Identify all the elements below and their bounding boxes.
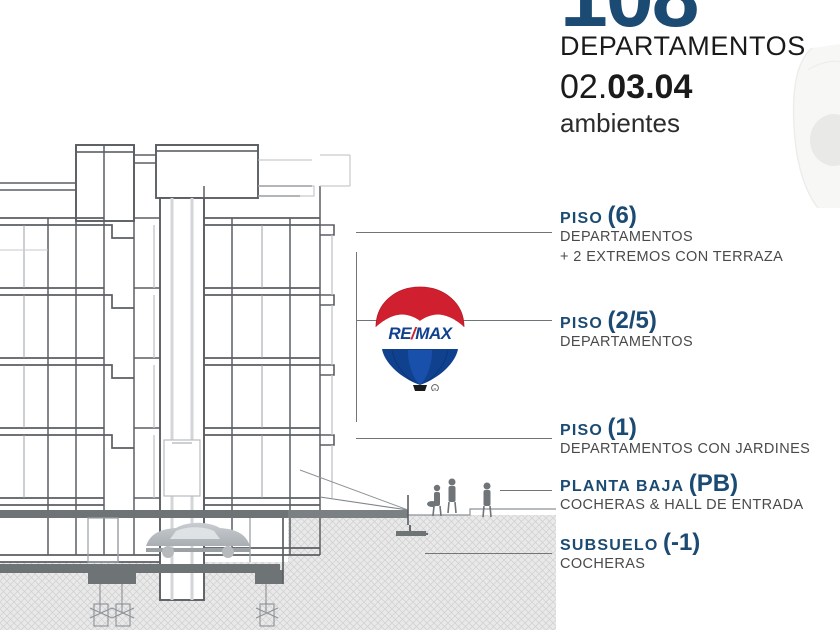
floor-desc-line: COCHERAS & HALL DE ENTRADA — [560, 496, 840, 516]
floor-label: SUBSUELO — [560, 537, 659, 554]
floor-label: PISO — [560, 210, 603, 227]
floor-title-planta-baja: PLANTA BAJA (PB) — [560, 471, 840, 496]
floor-label: PISO — [560, 422, 603, 439]
floor-desc-line: + 2 EXTREMOS CON TERRAZA — [560, 248, 840, 268]
hero-subtitle: DEPARTAMENTOS — [560, 33, 806, 60]
floor-desc-line: DEPARTAMENTOS — [560, 333, 840, 353]
building-section-drawing — [0, 0, 556, 630]
hero-room-options: 02.03.04 — [560, 70, 692, 104]
floor-number: (PB) — [689, 470, 738, 497]
floor-number: (6) — [608, 202, 637, 229]
floor-legend-planta-baja: PLANTA BAJA (PB) COCHERAS & HALL DE ENTR… — [560, 471, 840, 516]
floor-label: PLANTA BAJA — [560, 478, 684, 495]
floor-title-piso1: PISO (1) — [560, 415, 840, 440]
leader-line-subsuelo — [425, 553, 552, 554]
floor-number: (-1) — [663, 529, 700, 556]
leader-line-piso6 — [356, 232, 552, 233]
svg-text:RE/MAX: RE/MAX — [388, 324, 453, 343]
info-column: 108 DEPARTAMENTOS 02.03.04 ambientes PIS… — [556, 0, 840, 630]
leader-line-pb — [500, 490, 552, 491]
floor-legend-piso6: PISO (6) DEPARTAMENTOS + 2 EXTREMOS CON … — [560, 203, 840, 267]
floor-number: (2/5) — [608, 307, 657, 334]
floor-desc-line: DEPARTAMENTOS — [560, 228, 840, 248]
rooms-bold: 03.04 — [607, 68, 692, 106]
remax-balloon-logo: RE/MAX R — [368, 281, 472, 391]
floor-legend-piso1: PISO (1) DEPARTAMENTOS CON JARDINES — [560, 415, 840, 460]
floor-legend-subsuelo: SUBSUELO (-1) COCHERAS — [560, 530, 840, 575]
floor-title-piso25: PISO (2/5) — [560, 308, 840, 333]
floor-label: PISO — [560, 315, 603, 332]
leader-line-piso1 — [356, 438, 552, 439]
floor-title-piso6: PISO (6) — [560, 203, 840, 228]
floor-legend-piso25: PISO (2/5) DEPARTAMENTOS — [560, 308, 840, 353]
logo-text-re: RE — [388, 324, 412, 343]
registered-mark: R — [434, 387, 437, 391]
floor-number: (1) — [608, 414, 637, 441]
floor-title-subsuelo: SUBSUELO (-1) — [560, 530, 840, 555]
hero-rooms-caption: ambientes — [560, 110, 680, 136]
rooms-light: 02. — [560, 68, 607, 106]
floor-desc-line: COCHERAS — [560, 555, 840, 575]
leader-bracket-piso25 — [356, 252, 357, 422]
logo-text-max: MAX — [415, 324, 453, 343]
floor-desc-line: DEPARTAMENTOS CON JARDINES — [560, 440, 840, 460]
poster-root: RE/MAX R 108 DEPARTAMENTOS 02.03.04 ambi… — [0, 0, 840, 630]
